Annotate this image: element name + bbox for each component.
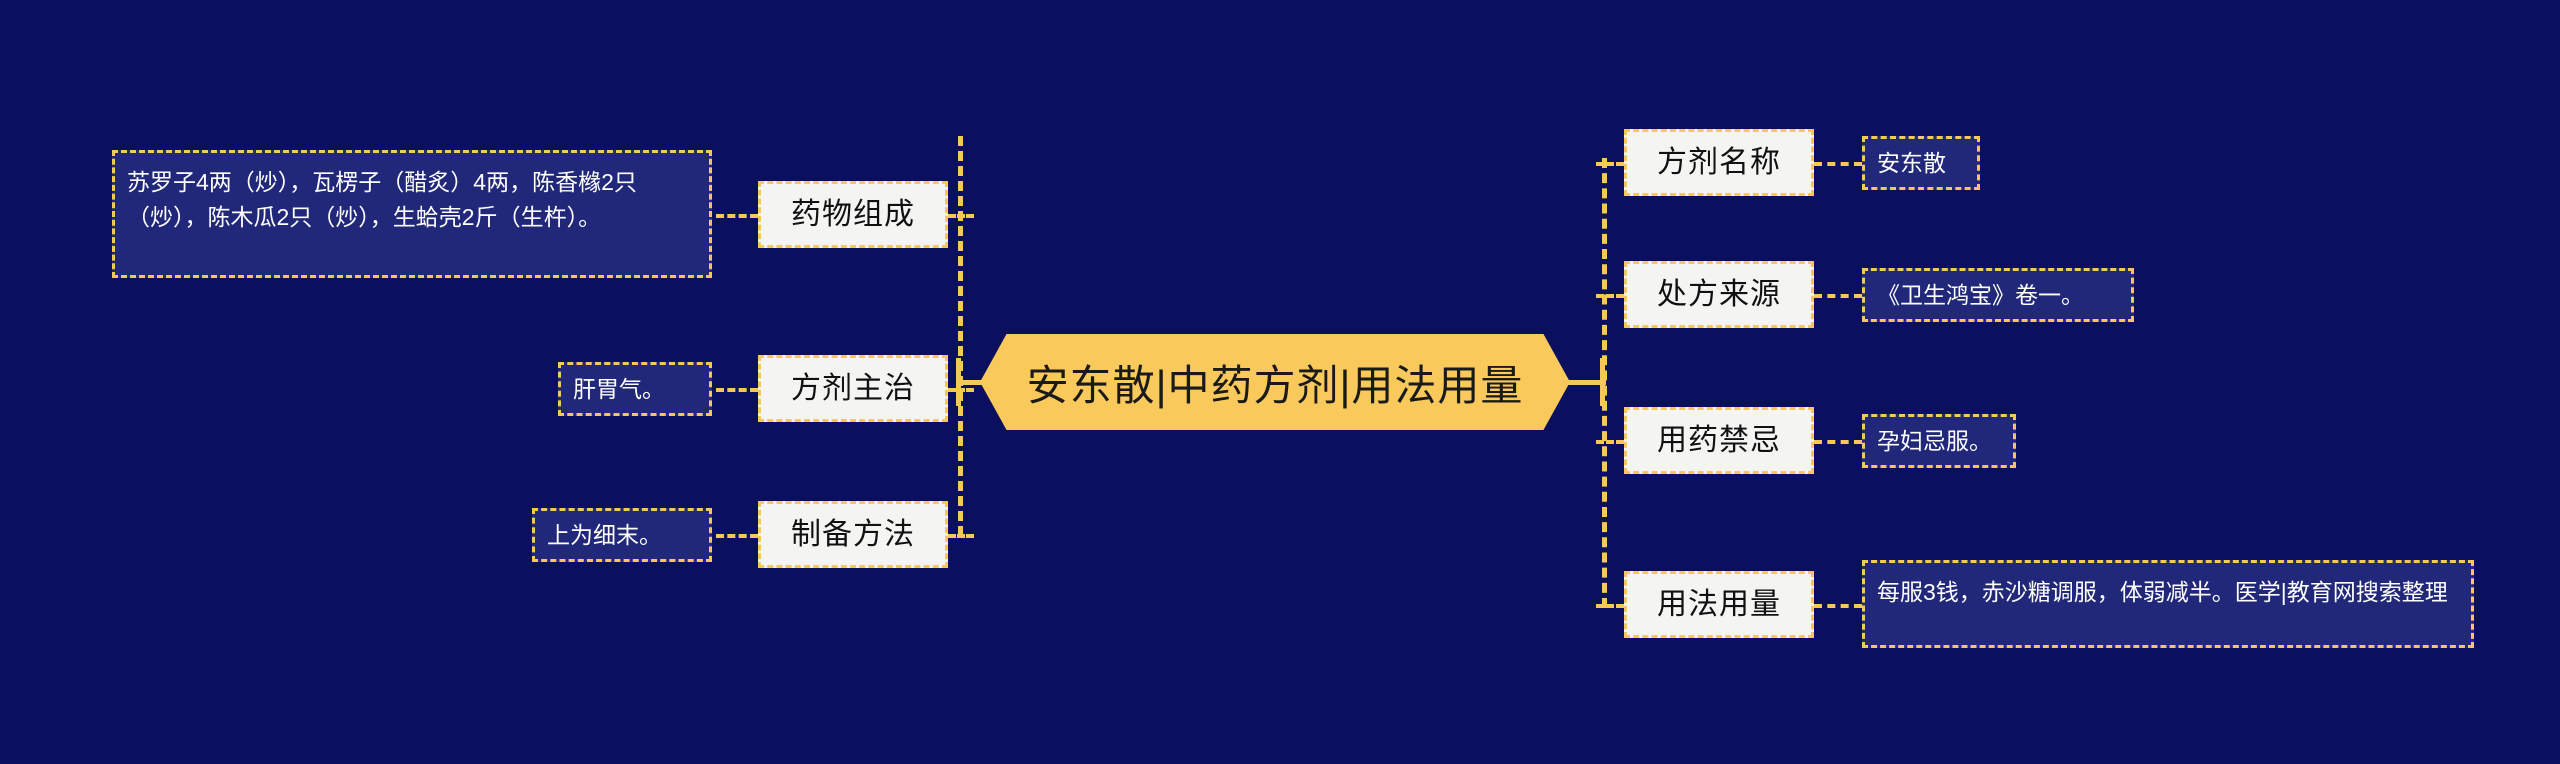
connector-trunk-zhibeifangfa (948, 534, 974, 538)
branch-node-label: 方剂主治 (791, 370, 915, 408)
connector-fangjizhuzhi-detail (716, 388, 758, 392)
mindmap-canvas: 苏罗子4两（炒），瓦楞子（醋炙）4两，陈香橼2只（炒），陈木瓜2只（炒），生蛤壳… (0, 0, 2560, 764)
central-topic-node[interactable]: 安东散|中药方剂|用法用量 (980, 334, 1570, 430)
branch-node-fangjizhuzhi[interactable]: 方剂主治 (758, 355, 948, 422)
branch-node-yaowuzucheng[interactable]: 药物组成 (758, 181, 948, 248)
connector-yongyaojinji-detail (1814, 440, 1862, 444)
branch-node-label: 方剂名称 (1657, 144, 1781, 182)
leaf-detail-text: 肝胃气。 (573, 372, 665, 407)
branch-node-label: 制备方法 (791, 516, 915, 554)
branch-node-zhibeifangfa[interactable]: 制备方法 (758, 501, 948, 568)
branch-node-fangjimingcheng[interactable]: 方剂名称 (1624, 129, 1814, 196)
branch-node-label: 处方来源 (1657, 276, 1781, 314)
connector-trunk-fangjimingcheng (1596, 162, 1624, 166)
connector-yaowuzucheng-detail (716, 214, 758, 218)
branch-node-label: 用药禁忌 (1657, 422, 1781, 460)
right-central-stub (1562, 380, 1606, 385)
leaf-detail-text: 每服3钱，赤沙糖调服，体弱减半。医学|教育网搜索整理 (1877, 575, 2448, 610)
branch-node-yongyaojinji[interactable]: 用药禁忌 (1624, 407, 1814, 474)
leaf-detail-fangjimingcheng: 安东散 (1862, 136, 1980, 190)
leaf-detail-text: 《卫生鸿宝》卷一。 (1877, 278, 2084, 313)
central-topic-label: 安东散|中药方剂|用法用量 (1027, 352, 1524, 413)
connector-trunk-yongfayongliang (1596, 604, 1624, 608)
connector-fangjimingcheng-detail (1814, 162, 1862, 166)
connector-trunk-yaowuzucheng (948, 214, 974, 218)
connector-trunk-fangjizhuzhi (948, 388, 974, 392)
leaf-detail-text: 安东散 (1877, 146, 1946, 181)
leaf-detail-zhibeifangfa: 上为细末。 (532, 508, 712, 562)
connector-zhibeifangfa-detail (716, 534, 758, 538)
connector-yongfayongliang-detail (1814, 604, 1862, 608)
branch-node-yongfayongliang[interactable]: 用法用量 (1624, 571, 1814, 638)
branch-node-label: 用法用量 (1657, 586, 1781, 624)
connector-chufanglaiyuan-detail (1814, 294, 1862, 298)
connector-trunk-chufanglaiyuan (1596, 294, 1624, 298)
leaf-detail-yongfayongliang: 每服3钱，赤沙糖调服，体弱减半。医学|教育网搜索整理 (1862, 560, 2474, 648)
left-trunk-connector (958, 136, 963, 536)
connector-trunk-yongyaojinji (1596, 440, 1624, 444)
branch-node-label: 药物组成 (791, 196, 915, 234)
branch-node-chufanglaiyuan[interactable]: 处方来源 (1624, 261, 1814, 328)
leaf-detail-chufanglaiyuan: 《卫生鸿宝》卷一。 (1862, 268, 2134, 322)
leaf-detail-fangjizhuzhi: 肝胃气。 (558, 362, 712, 416)
leaf-detail-yaowuzucheng: 苏罗子4两（炒），瓦楞子（醋炙）4两，陈香橼2只（炒），陈木瓜2只（炒），生蛤壳… (112, 150, 712, 278)
leaf-detail-text: 上为细末。 (547, 518, 662, 553)
leaf-detail-text: 苏罗子4两（炒），瓦楞子（醋炙）4两，陈香橼2只（炒），陈木瓜2只（炒），生蛤壳… (127, 165, 697, 234)
leaf-detail-text: 孕妇忌服。 (1877, 424, 1992, 459)
leaf-detail-yongyaojinji: 孕妇忌服。 (1862, 414, 2016, 468)
